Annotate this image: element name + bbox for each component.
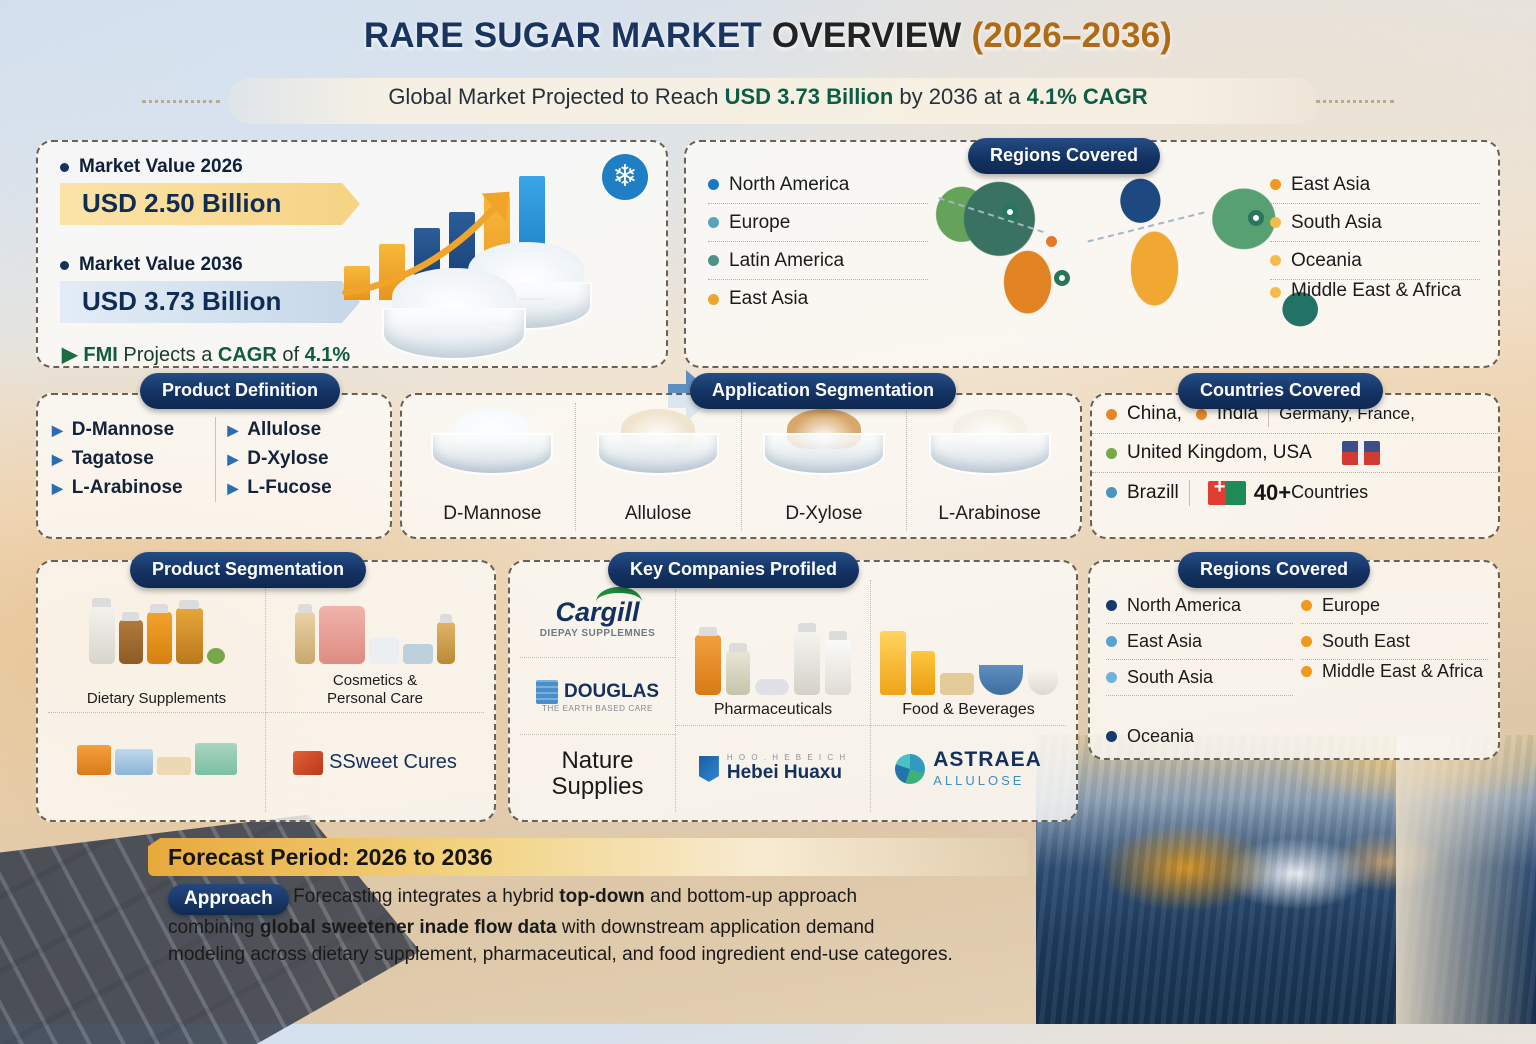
countries-covered-panel: China, India Germany, France, United Kin… [1090,393,1500,539]
triangle-right-icon: ▶ [52,422,63,439]
bullet-icon [1106,487,1117,498]
map-pin-asia [1248,210,1264,226]
map-connector-line [1088,212,1205,243]
product-label: L-Fucose [247,477,331,499]
region-label: South East [1322,631,1410,652]
brand-name: ASTRAEA [933,748,1042,772]
application-cell[interactable]: D-Xylose [742,403,908,531]
product-label: D-Xylose [247,448,328,470]
bullet-icon [1270,179,1281,190]
application-label: D-Xylose [742,503,907,525]
flag-mark-icon [699,756,719,782]
logo-douglas[interactable]: DOUGLAS THE EARTH BASED CARE [520,658,675,736]
product-item[interactable]: ▶D-Xylose [228,448,379,470]
supplement-bottles-illustration [89,586,225,664]
sugar-bowl-illustration [431,409,553,475]
page-title: RARE SUGAR MARKET OVERVIEW (2026–2036) [0,16,1536,56]
food-beverages-column: Food & Beverages ASTRAEA ALLULOSE [871,580,1066,812]
sugar-and-port-photo [1036,735,1536,1024]
subtitle-mid: by 2036 at a [893,84,1026,109]
bullet-icon [708,255,719,266]
product-definition-grid: ▶D-Mannose ▶Tagatose ▶L-Arabinose ▶Allul… [52,413,378,506]
subtitle-pre: Global Market Projected to Reach [388,84,724,109]
bullet-dot-icon [60,261,69,270]
map-origin-dot [1046,236,1057,247]
countries-count-label: Countries [1291,482,1368,503]
product-segmentation-panel: Dietary Supplements Cosmetics & Personal… [36,560,496,822]
region-label: East Asia [1291,174,1370,196]
logo-hebei-huaxu[interactable]: H O O . H E B E I C H Hebei Huaxu [676,725,870,812]
bullet-icon [1106,731,1117,742]
mint-bars [195,743,237,775]
medicine-bottle [695,635,721,695]
title-part-1: RARE SUGAR MARKET [364,16,762,55]
segmentation-cell-cosmetics[interactable]: Cosmetics & Personal Care [266,580,484,713]
approach-text-d: combining [168,917,260,938]
region-item[interactable]: Latin America [708,242,928,280]
regions-covered-top-panel: North America Europe Latin America East … [684,140,1500,368]
logo-cargill[interactable]: Cargill DIEPAY SUPPLEMNES [520,580,675,658]
countries-row-3[interactable]: Brazill 40+ Countries [1092,473,1498,512]
brand-tagline: DIEPAY SUPPLEMNES [540,628,656,639]
region-label: Europe [1322,595,1380,616]
bread-stack [940,673,974,695]
candy-cubes [77,745,111,775]
region-item[interactable]: East Asia [1106,624,1293,660]
flag-icon [1342,441,1380,465]
bottle [89,606,115,664]
cookies [157,757,191,775]
bullet-dot-icon [60,163,69,172]
region-item[interactable]: Oceania [1270,242,1480,280]
soap-bar [403,644,433,664]
country-brazil: Brazill [1127,482,1179,504]
region-item[interactable]: North America [1106,588,1293,624]
food-beverages-illustration [871,580,1066,701]
bottle [119,620,143,664]
sugar-bowl-front [382,308,526,360]
product-label: Allulose [247,419,321,441]
regions-bottom-grid: North America Europe East Asia South Eas… [1106,588,1488,754]
bullet-icon [1106,600,1117,611]
cargill-wordmark: Cargill [555,597,639,628]
region-label: Middle East & Africa [1291,280,1461,303]
glass-bowl [929,433,1051,475]
market-value-2026-label: Market Value 2026 [60,156,360,178]
product-definition-heading: Product Definition [140,373,340,409]
brand-tagline: THE EARTH BASED CARE [542,704,653,713]
segmentation-label: Cosmetics & Personal Care [266,672,484,709]
region-label: South Asia [1291,212,1382,234]
medicine-bottle [726,651,750,695]
column-caption: Pharmaceuticals [676,701,870,725]
product-segmentation-heading: Product Segmentation [130,552,366,588]
bullet-icon [1106,672,1117,683]
product-definition-left-column: ▶D-Mannose ▶Tagatose ▶L-Arabinose [52,413,203,506]
application-segmentation-row: D-Mannose Allulose D-Xylose L-Arabinose [410,403,1072,531]
sugar-bowl-illustration [763,409,885,475]
cagr-of-text: of [277,344,305,366]
regions-covered-bottom-panel: North America Europe East Asia South Eas… [1088,560,1500,760]
sweet-cures-logo: SSweet Cures [266,713,484,812]
application-label: L-Arabinose [907,503,1072,525]
brand-tagline: H O O . H E B E I C H [727,753,847,762]
bullet-icon [708,179,719,190]
bottle [176,608,203,664]
application-cell[interactable]: D-Mannose [410,403,576,531]
triangle-right-icon: ▶ [228,422,239,439]
medicine-bottle [794,631,820,695]
cagr-mid-text: Projects a [118,344,218,366]
regions-covered-bottom-heading: Regions Covered [1178,552,1370,588]
approach-text-g: modeling across dietary supplement, phar… [168,944,953,965]
triangle-right-icon: ▶ [62,344,77,366]
market-value-2036-amount: USD 3.73 Billion [60,281,360,323]
country-china: China, [1127,403,1182,425]
product-definition-right-column: ▶Allulose ▶D-Xylose ▶L-Fucose [228,413,379,506]
product-label: D-Mannose [72,419,174,441]
triangle-right-icon: ▶ [52,480,63,497]
region-item[interactable]: South East [1301,624,1488,660]
application-label: D-Mannose [410,503,575,525]
logo-mark-icon [293,751,323,775]
approach-block: Approach Forecasting integrates a hybrid… [168,884,1068,969]
bottle [147,612,172,664]
bullet-icon [1106,636,1117,647]
approach-text-a: Forecasting integrates a hybrid [293,886,559,907]
region-item[interactable]: Europe [1301,588,1488,624]
product-item[interactable]: ▶D-Mannose [52,419,203,441]
column-caption: Food & Beverages [871,701,1066,725]
region-item[interactable]: East Asia [1270,166,1480,204]
region-label: South Asia [1127,667,1213,688]
key-companies-panel: Cargill DIEPAY SUPPLEMNES DOUGLAS THE EA… [508,560,1078,822]
bullet-icon [1106,409,1117,420]
map-connector-line [938,197,1043,233]
countries-covered-heading: Countries Covered [1178,373,1383,409]
region-item[interactable]: Middle East & Africa [1301,660,1488,718]
brand-name: Nature Supplies [551,748,643,798]
brand-name: Hebei Huaxu [727,762,842,783]
spray-bottle [295,612,315,664]
label-text: Market Value 2026 [79,156,243,178]
snowflake-icon: ❄ [602,154,648,200]
application-cell[interactable]: L-Arabinose [907,403,1072,531]
title-part-2: OVERVIEW [762,16,971,55]
region-item[interactable]: South Asia [1106,660,1293,696]
region-label: Latin America [729,250,844,272]
approach-badge: Approach [168,884,289,915]
region-item[interactable]: Europe [708,204,928,242]
region-item[interactable]: Oceania [1106,718,1293,754]
key-companies-grid: Cargill DIEPAY SUPPLEMNES DOUGLAS THE EA… [520,580,1066,812]
title-part-3: (2026–2036) [971,16,1172,55]
pills [755,679,789,695]
region-label: Middle East & Africa [1322,660,1483,683]
juice-glass [911,651,935,695]
segmentation-cell-confectionery[interactable] [48,713,266,812]
regions-top-left-list: North America Europe Latin America East … [708,166,928,318]
region-label: Oceania [1291,250,1362,272]
medicine-bottle [825,639,851,695]
key-companies-heading: Key Companies Profiled [608,552,859,588]
map-pin-north-america [1002,204,1018,220]
bullet-icon [1270,255,1281,266]
herb-garnish [207,648,225,664]
triangle-right-icon: ▶ [228,480,239,497]
globe-icon [895,754,925,784]
glass-bowl [763,433,885,475]
regions-top-right-list: East Asia South Asia Oceania Middle East… [1270,166,1480,318]
application-label: Allulose [576,503,741,525]
glass-bowl [597,433,719,475]
bullet-icon [1301,666,1312,677]
subtitle-cagr: 4.1% CAGR [1027,84,1148,109]
region-item-empty [1301,718,1488,754]
segmentation-label: Dietary Supplements [48,690,265,708]
confectionery-illustration [77,723,237,775]
market-value-panel: Market Value 2026 USD 2.50 Billion Marke… [36,140,668,368]
divider [1189,480,1190,506]
cagr-source: FMI [83,344,117,366]
approach-text-f: with downstream application demand [557,917,875,938]
region-item[interactable]: North America [708,166,928,204]
region-label: North America [1127,595,1241,616]
sugar-bowl-illustration [929,409,1051,475]
product-definition-panel: ▶D-Mannose ▶Tagatose ▶L-Arabinose ▶Allul… [36,393,392,539]
juice-glass [880,631,906,695]
product-label: Tagatose [72,448,154,470]
region-label: East Asia [1127,631,1202,652]
bullet-icon [1270,217,1281,228]
application-segmentation-heading: Application Segmentation [690,373,956,409]
region-item[interactable]: Middle East & Africa [1270,280,1480,318]
brand-name: DOUGLAS [564,681,659,703]
flag-icon [1208,481,1246,505]
oil-bottle [437,622,455,664]
company-logo-column: Cargill DIEPAY SUPPLEMNES DOUGLAS THE EA… [520,580,676,812]
triangle-right-icon: ▶ [52,451,63,468]
market-value-2026-amount: USD 2.50 Billion [60,183,360,225]
pharmaceuticals-illustration [676,580,870,701]
region-label: East Asia [729,288,808,310]
growth-chart-illustration: ❄ [336,150,656,360]
approach-text-e: global sweetener inade flow data [260,917,557,938]
forecast-period-banner: Forecast Period: 2026 to 2036 [148,838,1028,876]
brand-tagline: ALLULOSE [933,773,1024,788]
cube-icon [536,680,558,704]
cagr-word: CAGR [218,344,277,366]
cagr-statement: ▶FMI Projects a CAGR of 4.1% [62,342,350,367]
bullet-icon [1196,409,1207,420]
cream-jar [319,606,365,664]
product-segmentation-grid: Dietary Supplements Cosmetics & Personal… [48,580,484,812]
bullet-icon [1270,287,1281,298]
glass-bowl [431,433,553,475]
product-item[interactable]: ▶L-Fucose [228,477,379,499]
region-label: North America [729,174,849,196]
logo-astraea[interactable]: ASTRAEA ALLULOSE [871,725,1066,812]
product-item[interactable]: ▶Allulose [228,419,379,441]
label-text: Market Value 2036 [79,254,243,276]
subtitle-value: USD 3.73 Billion [725,84,894,109]
pharmaceuticals-column: Pharmaceuticals H O O . H E B E I C H He… [676,580,871,812]
douglas-wordmark: DOUGLAS [536,680,659,704]
segmentation-cell-dietary[interactable]: Dietary Supplements [48,580,266,713]
product-item[interactable]: ▶L-Arabinose [52,477,203,499]
region-item[interactable]: South Asia [1270,204,1480,242]
bullet-icon [708,217,719,228]
triangle-right-icon: ▶ [228,451,239,468]
map-pin-south-america [1054,270,1070,286]
bullet-icon [1301,636,1312,647]
product-item[interactable]: ▶Tagatose [52,448,203,470]
brand-name: SSweet Cures [329,751,457,774]
swoosh-icon [596,587,642,605]
salad-bowl [1028,669,1058,695]
region-label: Europe [729,212,790,234]
cosmetics-illustration [295,586,455,664]
segmentation-cell-sweet-cures[interactable]: SSweet Cures [266,713,484,812]
page-subtitle: Global Market Projected to Reach USD 3.7… [0,84,1536,110]
approach-text-c: and bottom-up approach [645,886,857,907]
region-label: Oceania [1127,726,1194,747]
sugar-bowl-illustration [597,409,719,475]
countries-count: 40+ [1254,480,1291,506]
application-segmentation-panel: D-Mannose Allulose D-Xylose L-Arabinose [400,393,1082,539]
gum-pack [115,749,153,775]
regions-covered-top-heading: Regions Covered [968,138,1160,174]
round-case [369,638,399,664]
product-label: L-Arabinose [72,477,183,499]
approach-text-b: top-down [559,886,644,907]
bullet-icon [1106,448,1117,459]
logo-nature-supplies[interactable]: Nature Supplies [520,735,675,812]
application-cell[interactable]: Allulose [576,403,742,531]
bullet-icon [708,294,719,305]
bullet-icon [1301,600,1312,611]
countries-row-2[interactable]: United Kingdom, USA [1092,434,1498,473]
region-item[interactable]: East Asia [708,280,928,318]
cereal-bowl [979,665,1023,695]
countries-uk-usa: United Kingdom, USA [1127,442,1312,464]
market-value-2036-label: Market Value 2036 [60,254,360,276]
column-divider [215,417,216,502]
